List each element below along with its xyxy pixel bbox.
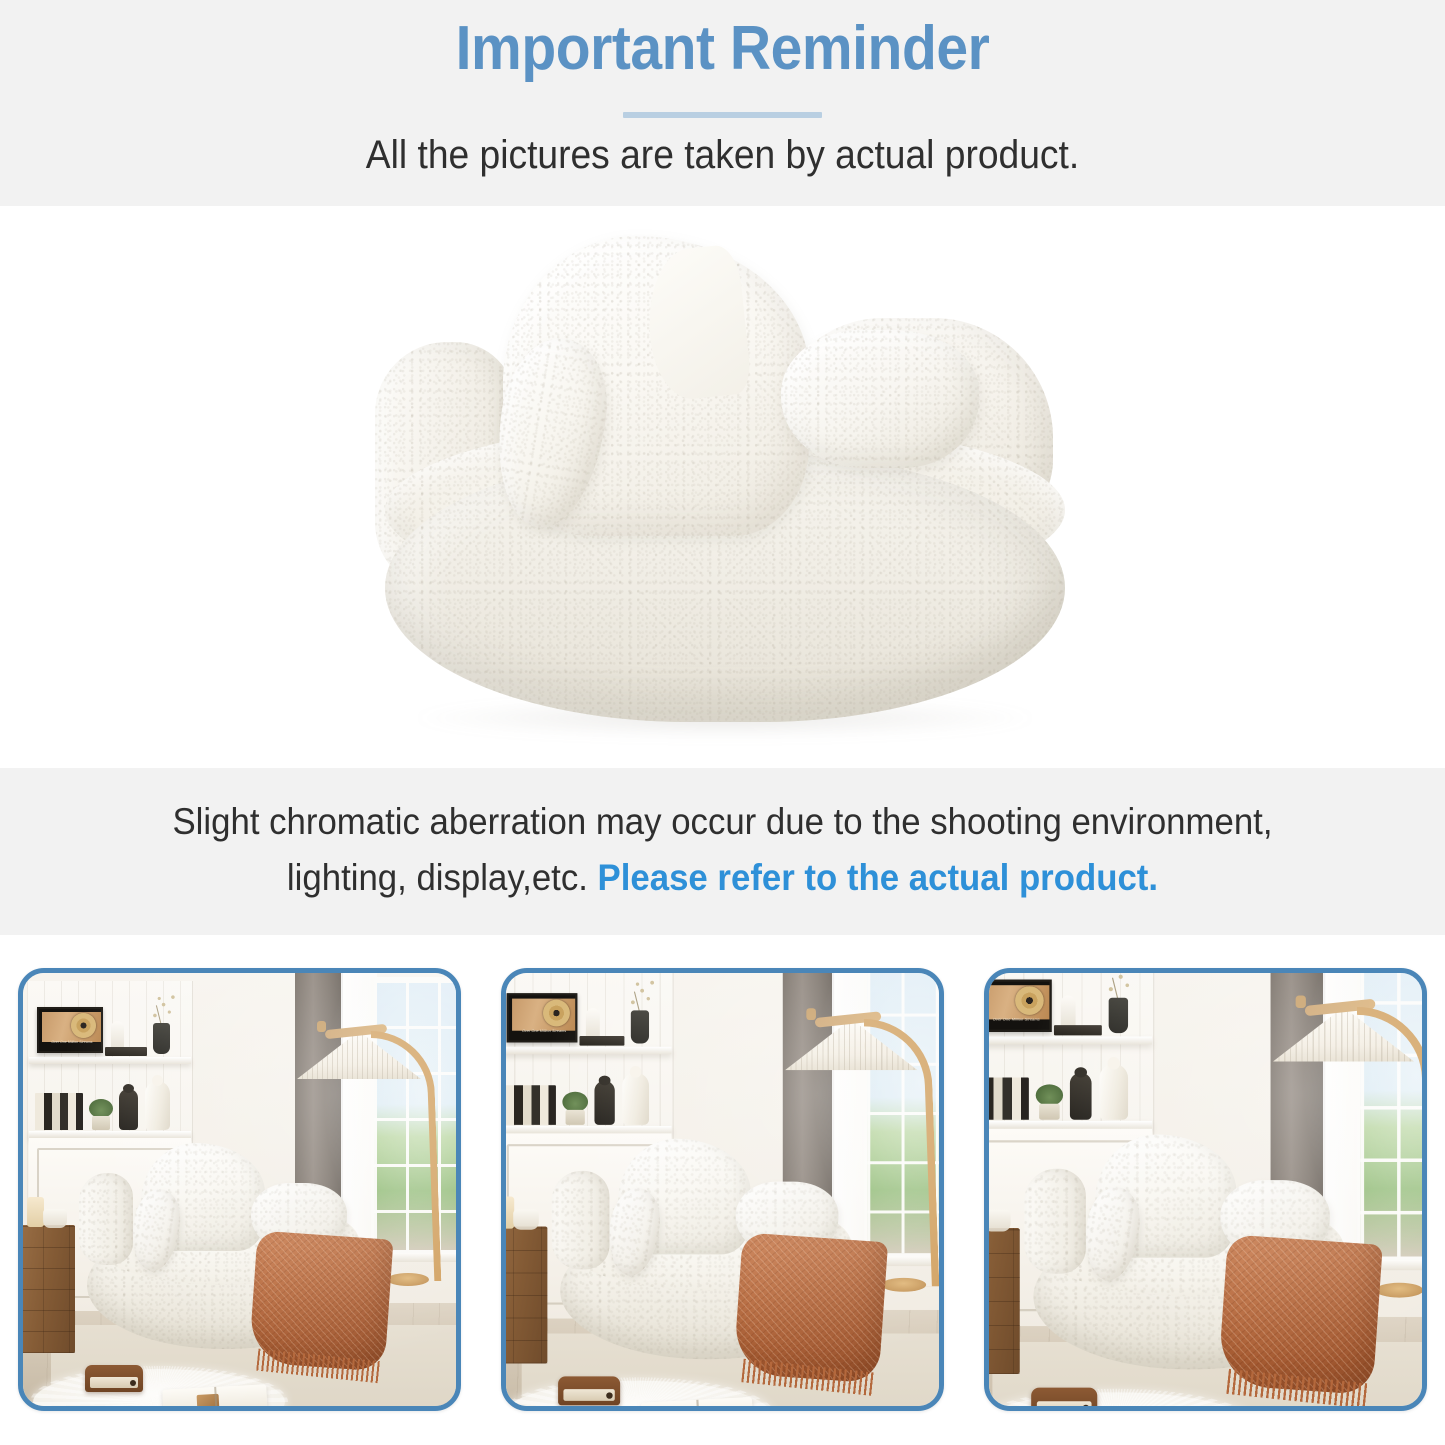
page-title: Important Reminder: [58, 16, 1387, 81]
glass-jar: [513, 1209, 539, 1229]
wooden-side-table: [989, 1228, 1020, 1374]
dark-sculptural-vase: [119, 1089, 138, 1130]
stacked-books-lower: [989, 1078, 1029, 1120]
potted-plant: [562, 1092, 588, 1125]
vintage-wooden-radio: [1031, 1388, 1097, 1406]
poster-caption: Over One Million Streams: [989, 1015, 1049, 1025]
room-scene-2: Over One Million Streams: [506, 973, 939, 1406]
scene-boucle-chair: [1020, 1141, 1369, 1385]
wooden-side-table: [23, 1225, 75, 1353]
note-line-2-plain: lighting, display,etc.: [287, 857, 598, 898]
note-line-1: Slight chromatic aberration may occur du…: [43, 794, 1401, 850]
shelf-upper: [506, 1047, 671, 1054]
poster-caption: Over One Million Streams: [513, 1026, 575, 1036]
dark-vase-upper: [153, 1023, 170, 1054]
scene-boucle-chair: [75, 1149, 381, 1363]
lifestyle-gallery: Over One Million Streams: [0, 968, 1445, 1411]
boucle-swivel-chair-illustration: [353, 222, 1093, 754]
note-highlight: Please refer to the actual product.: [598, 857, 1159, 898]
stacked-books-upper: [105, 1047, 147, 1056]
vintage-wooden-radio: [558, 1376, 620, 1405]
dark-vase-upper: [1109, 998, 1128, 1033]
pillar-candle: [27, 1197, 44, 1227]
white-ribbed-vase: [145, 1081, 170, 1130]
scene-boucle-chair: [547, 1145, 874, 1374]
glass-jar: [43, 1209, 67, 1228]
dark-vase-upper: [631, 1010, 649, 1043]
lamp-finial: [1296, 995, 1306, 1008]
main-product-image: [353, 222, 1093, 754]
shelf-lower: [506, 1126, 671, 1133]
white-ribbed-vase: [622, 1072, 649, 1124]
lamp-base: [387, 1273, 429, 1286]
white-ribbed-vase: [1100, 1064, 1129, 1120]
wooden-side-table: [506, 1227, 547, 1364]
framed-gold-record-poster: Over One Million Streams: [507, 993, 578, 1042]
framed-gold-record-poster: Over One Million Streams: [989, 980, 1052, 1032]
stacked-books-lower: [35, 1093, 83, 1130]
dark-sculptural-vase: [594, 1081, 614, 1125]
dried-branch-decor: [1102, 973, 1143, 1000]
stacked-books-upper: [1054, 1025, 1102, 1035]
chair-back-cushion-peak: [641, 243, 752, 402]
room-scene-3: Over One Million Streams: [989, 973, 1422, 1406]
chair-lumbar-pillow: [781, 330, 979, 468]
vinyl-record-icon: [1015, 986, 1044, 1015]
title-divider: [0, 112, 1445, 118]
note-line-2: lighting, display,etc. Please refer to t…: [43, 850, 1401, 906]
lamp-base: [881, 1278, 926, 1292]
poster-caption: Over One Million Streams: [43, 1038, 101, 1047]
chromatic-aberration-note: Slight chromatic aberration may occur du…: [43, 794, 1401, 906]
framed-gold-record-poster: Over One Million Streams: [37, 1007, 103, 1053]
lamp-base: [1375, 1283, 1422, 1298]
lamp-finial: [317, 1021, 326, 1032]
page-subtitle: All the pictures are taken by actual pro…: [51, 131, 1395, 179]
dried-branch-decor: [147, 991, 183, 1025]
shelf-upper: [29, 1057, 191, 1064]
scene-chair-left-arm: [79, 1173, 133, 1265]
shelf-upper: [989, 1037, 1152, 1045]
dark-sculptural-vase: [1070, 1073, 1092, 1120]
scene-chair-left-arm: [552, 1171, 610, 1269]
vintage-wooden-radio: [85, 1365, 143, 1392]
shelf-lower: [989, 1121, 1152, 1129]
vinyl-record-icon: [543, 1000, 570, 1027]
lifestyle-photo-3[interactable]: Over One Million Streams: [984, 968, 1427, 1411]
dried-branch-decor: [624, 976, 663, 1012]
vinyl-record-icon: [71, 1013, 96, 1038]
potted-plant: [1036, 1084, 1063, 1119]
shelf-lower: [29, 1131, 191, 1138]
potted-plant: [89, 1099, 113, 1130]
lamp-finial: [806, 1008, 816, 1020]
lifestyle-photo-1[interactable]: Over One Million Streams: [18, 968, 461, 1411]
scene-chair-left-arm: [1024, 1169, 1086, 1274]
stacked-books-lower: [506, 1085, 556, 1125]
glass-jar: [989, 1210, 1011, 1232]
stacked-books-upper: [579, 1036, 624, 1046]
room-scene-1: Over One Million Streams: [23, 973, 456, 1406]
lifestyle-photo-2[interactable]: Over One Million Streams: [501, 968, 944, 1411]
